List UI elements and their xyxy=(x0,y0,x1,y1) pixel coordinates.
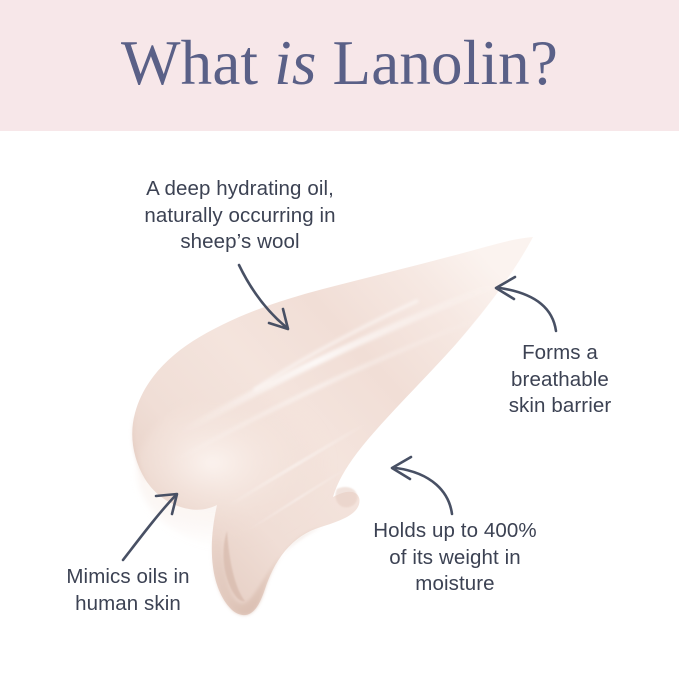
page-title-part-2: Lanolin? xyxy=(317,32,558,95)
annotation-hydrating-oil: A deep hydrating oil, naturally occurrin… xyxy=(110,176,370,256)
page-title-part-1: What xyxy=(121,32,274,95)
annotation-skin-barrier: Forms a breathable skin barrier xyxy=(470,340,650,420)
page-title-emphasis: is xyxy=(274,32,316,95)
annotation-moisture: Holds up to 400% of its weight in moistu… xyxy=(330,518,580,598)
annotation-mimics-oils: Mimics oils in human skin xyxy=(28,564,228,617)
infographic-page: What is Lanolin? xyxy=(0,0,679,679)
page-title: What is Lanolin? xyxy=(0,0,679,131)
